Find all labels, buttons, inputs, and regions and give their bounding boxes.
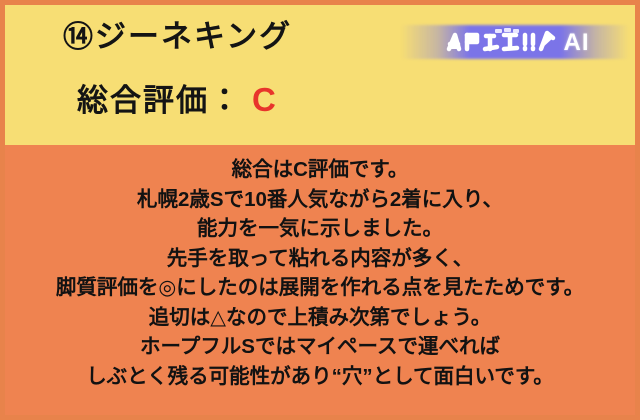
horse-title: ⑭ジーネキング xyxy=(63,21,292,53)
comment-line: ホープフルSではマイペースで運べれば xyxy=(5,332,635,362)
comment-line: 追切は△なので上積み次第でしょう。 xyxy=(5,303,635,333)
overall-rating-label: 総合評価： xyxy=(77,83,242,118)
evaluation-comment: 総合はC評価です。 札幌2歳Sで10番人気ながら2着に入り、 能力を一気に示しま… xyxy=(5,155,635,391)
overall-rating: 総合評価：C xyxy=(77,83,276,116)
badge-content: AI xyxy=(401,25,629,59)
overall-rating-value: C xyxy=(252,81,276,118)
comment-line: 脚質評価を◎にしたのは展開を作れる点を見たためです。 xyxy=(5,273,635,303)
comment-line: しぶとく残る可能性があり“穴”として面白いです。 xyxy=(5,362,635,392)
badge-ai-label: AI xyxy=(564,31,590,55)
comment-line: 先手を取って粘れる内容が多く、 xyxy=(5,244,635,274)
horse-name: ジーネキング xyxy=(95,19,292,54)
horse-evaluation-card: ⑭ジーネキング 総合評価：C xyxy=(0,0,640,420)
horse-number: ⑭ xyxy=(63,21,93,54)
comment-line: 札幌2歳Sで10番人気ながら2着に入り、 xyxy=(5,185,635,215)
comment-line: 能力を一気に示しました。 xyxy=(5,214,635,244)
papitto-logo-icon xyxy=(441,27,559,57)
papitto-ai-badge: AI xyxy=(401,25,629,59)
card-header-panel: ⑭ジーネキング 総合評価：C xyxy=(5,5,635,145)
comment-line: 総合はC評価です。 xyxy=(5,155,635,185)
